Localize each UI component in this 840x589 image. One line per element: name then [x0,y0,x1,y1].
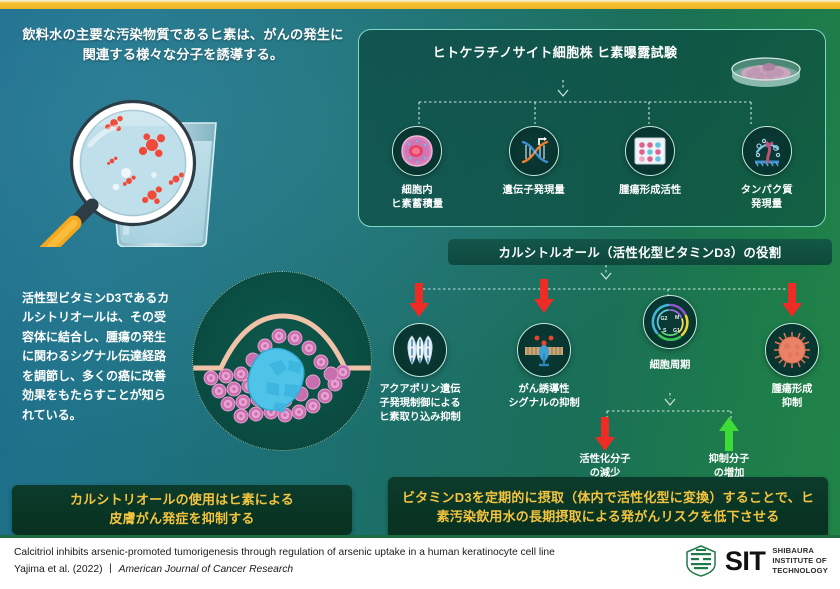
dna-helix-icon [509,126,559,176]
down-arrow-icon [408,283,430,317]
experiment-node-label: タンパク質 発現量 [741,184,793,212]
water-contamination-illustration [30,87,330,247]
citation: Calcitriol inhibits arsenic-promoted tum… [14,545,654,579]
petri-dish-icon [729,52,803,90]
down-arrow-icon [533,279,555,313]
experiment-node-label: 遺伝子発現量 [503,184,565,198]
page-title: 飲料水の主要な汚染物質であるヒ素は、がんの発生に関連する様々な分子を誘導する。 [18,25,348,66]
cell-cycle-phase-s: S [663,328,667,334]
citation-separator: 丨 [105,564,115,575]
experiment-node[interactable]: 細胞内 ヒ素蓄積量 [359,126,476,212]
calcitriol-description: 活性型ビタミンD3であるカルシトリオールは、その受容体に結合し、腫瘍の発生に関わ… [14,281,176,471]
top-gold-bar [0,0,840,9]
conclusion-left: カルシトリオールの使用はヒ素による 皮膚がん発症を抑制する [12,485,352,535]
down-arrow-icon [594,417,616,451]
protein-icon [742,126,792,176]
cell-cycle-phase-g1: G1 [673,328,680,334]
calcitriol-section-title: カルシトルオール（活性化型ビタミンD3）の役割 [448,239,832,265]
main-stage: 飲料水の主要な汚染物質であるヒ素は、がんの発生に関連する様々な分子を誘導する。 [0,9,840,535]
cell-cycle-icon: G2 M S G1 [643,295,697,349]
experiment-node[interactable]: 遺伝子発現量 [476,126,593,212]
tumor-cell-icon [765,323,819,377]
paper-authors: Yajima et al. (2022) [14,564,103,575]
sit-acronym: SIT [725,548,766,575]
cell-cycle-phase-g2: G2 [661,316,668,322]
conclusion-right: ビタミンD3を定期的に摂取（体内で活性化型に変換）することで、ヒ素汚染飲用水の長… [388,477,828,535]
down-arrow-icon [781,283,803,317]
up-arrow-icon [718,417,740,451]
experiment-node[interactable]: タンパク質 発現量 [709,126,826,212]
sit-emblem-icon [684,545,718,577]
cell-icon [392,126,442,176]
calcitriol-node[interactable]: アクアポリン遺伝 子発現制御による ヒ素取り込み抑制 [364,323,476,424]
membrane-receptor-icon [517,323,571,377]
sit-logo: SIT SHIBAURA INSTITUTE OF TECHNOLOGY [684,545,828,577]
graphical-abstract: 飲料水の主要な汚染物質であるヒ素は、がんの発生に関連する様々な分子を誘導する。 [0,0,840,589]
experiment-node-label: 細胞内 ヒ素蓄積量 [391,184,443,212]
skin-tumor-cross-section-icon [192,271,372,451]
experiment-node-label: 腫瘍形成活性 [619,184,681,198]
journal-name: American Journal of Cancer Research [119,564,294,575]
footer-divider [0,535,840,538]
calcitriol-node[interactable]: G2 M S G1 細胞周期 [614,295,726,373]
experiment-node[interactable]: 腫瘍形成活性 [592,126,709,212]
microplate-icon [625,126,675,176]
calcitriol-node-label: アクアポリン遺伝 子発現制御による ヒ素取り込み抑制 [379,383,461,424]
calcitriol-node-label: 腫瘍形成 抑制 [772,383,813,411]
experiment-node-list: 細胞内 ヒ素蓄積量 [359,126,825,212]
footer: Calcitriol inhibits arsenic-promoted tum… [0,535,840,589]
aquaporin-channel-icon [393,323,447,377]
paper-title: Calcitriol inhibits arsenic-promoted tum… [14,545,654,562]
cell-cycle-phase-m: M [675,315,679,321]
experiment-panel: ヒトケラチノサイト細胞株 ヒ素曝露試験 [358,29,826,227]
calcitriol-node-list: アクアポリン遺伝 子発現制御による ヒ素取り込み抑制 [372,267,840,472]
sit-full-name: SHIBAURA INSTITUTE OF TECHNOLOGY [772,546,828,575]
calcitriol-node-label: 細胞周期 [650,359,691,373]
